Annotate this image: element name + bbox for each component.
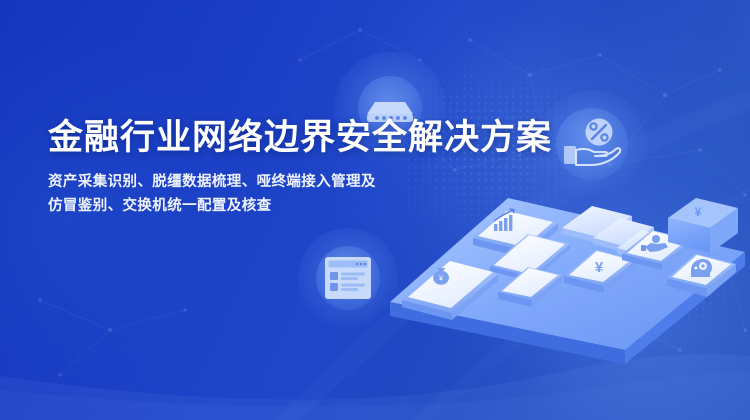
hand-percent-coin-icon	[561, 116, 623, 172]
glow-left	[0, 30, 260, 410]
block-yen: ¥	[668, 198, 738, 253]
page-title: 金融行业网络边界安全解决方案	[48, 118, 552, 157]
hero-text-block: 金融行业网络边界安全解决方案 资产采集识别、脱缰数据梳理、哑终端接入管理及 仿冒…	[48, 118, 552, 219]
tile-yen-label: ¥	[595, 259, 604, 276]
svg-text:¥: ¥	[439, 275, 443, 282]
block-yen-label: ¥	[695, 205, 702, 219]
checklist-window-icon	[323, 255, 373, 301]
subtitle-line-2: 仿冒鉴别、交换机统一配置及核查	[48, 195, 552, 219]
banner-root: ¥	[0, 0, 750, 420]
badge-hand-percent	[538, 90, 646, 198]
page-subtitle: 资产采集识别、脱缰数据梳理、哑终端接入管理及 仿冒鉴别、交换机统一配置及核查	[48, 171, 552, 219]
subtitle-line-1: 资产采集识别、脱缰数据梳理、哑终端接入管理及	[48, 171, 552, 195]
